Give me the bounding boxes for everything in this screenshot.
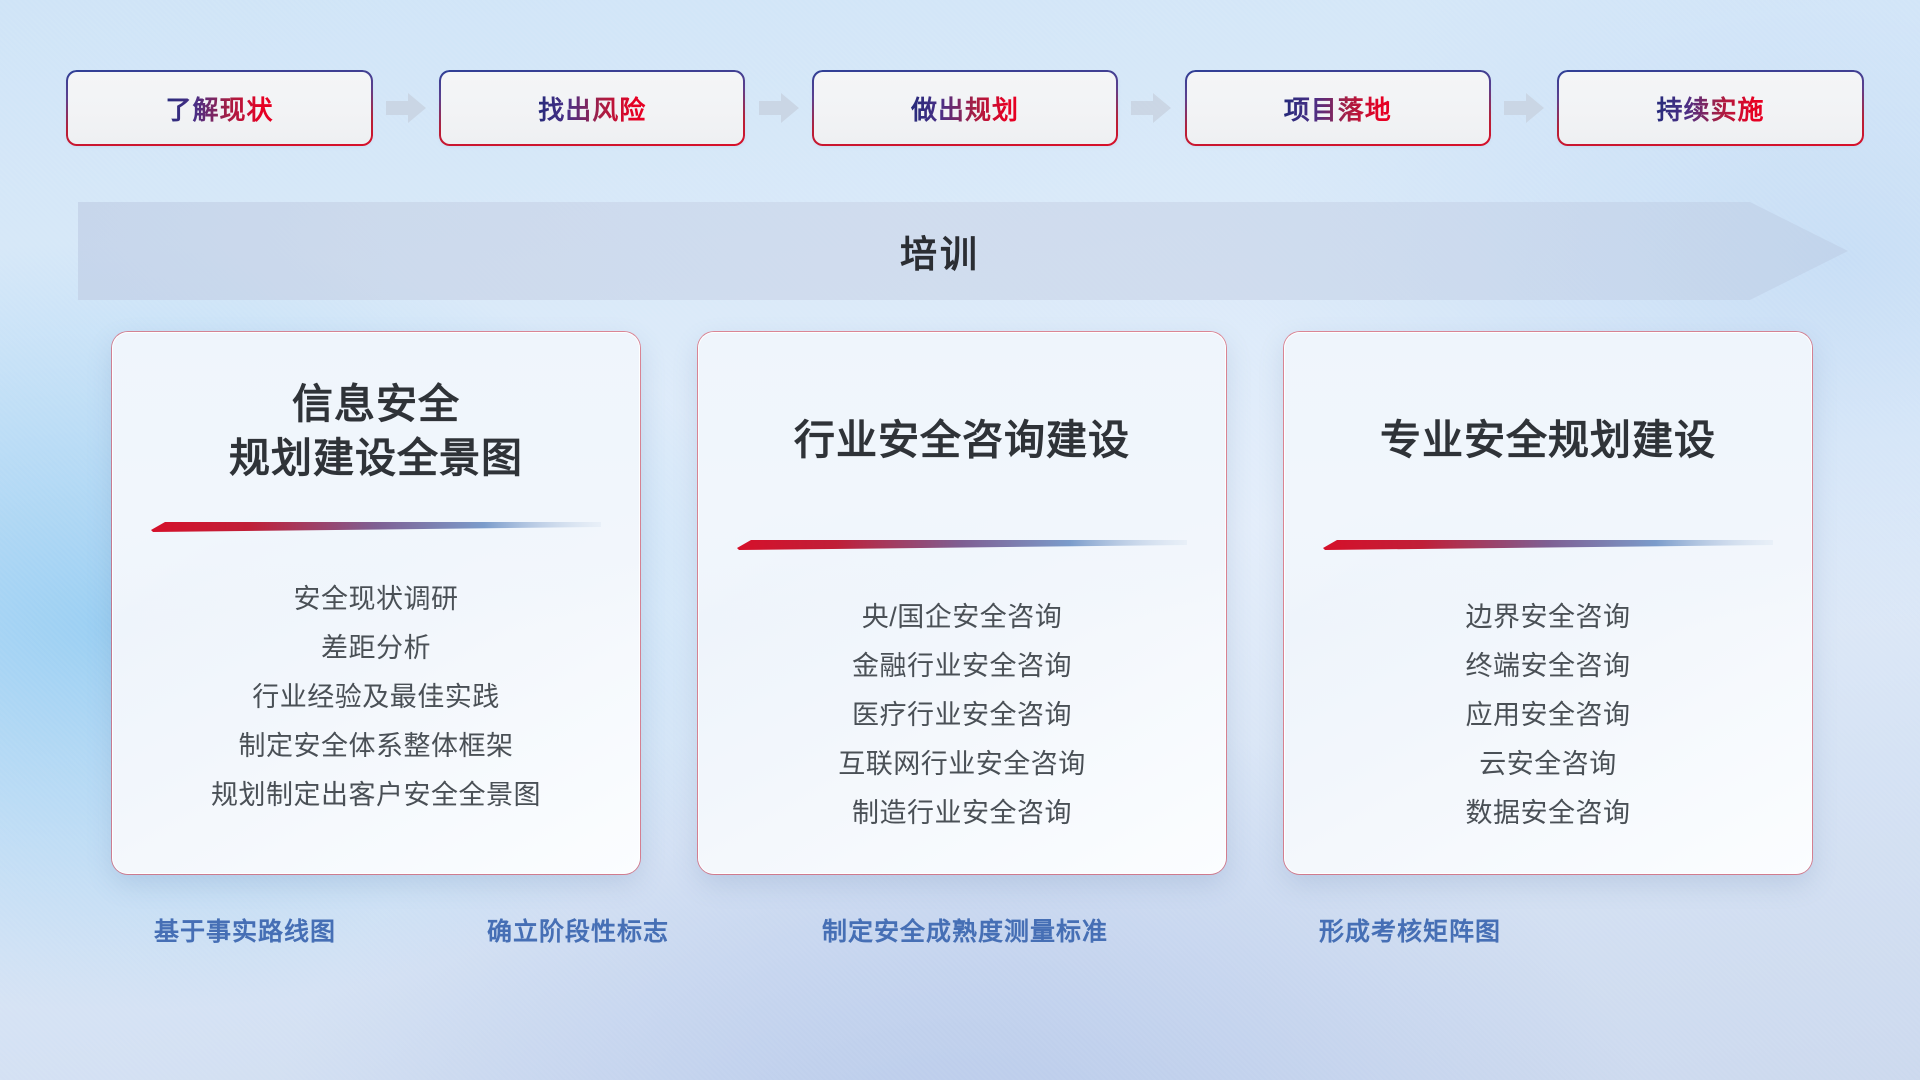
step-label-1: 了解现状 [165, 90, 273, 127]
list-item: 制定安全体系整体框架 [141, 722, 611, 771]
training-label-wrap: 培训 [0, 202, 1880, 300]
card-row: 信息安全 规划建设全景图 安全现状调研 [112, 332, 1812, 880]
gradient-rule-icon [151, 519, 601, 533]
card-divider-wrap [141, 519, 611, 533]
chevron-arrow-right-icon [386, 91, 426, 125]
card-professional-planning[interactable]: 专业安全规划建设 边界安全咨询 [1284, 332, 1812, 874]
card-item-list: 央/国企安全咨询 金融行业安全咨询 医疗行业安全咨询 互联网行业安全咨询 制造行… [727, 593, 1197, 838]
card-title: 行业安全咨询建设 [727, 413, 1197, 467]
card-title: 专业安全规划建设 [1313, 413, 1783, 467]
chevron-arrow-right-icon [759, 91, 799, 125]
step-box-3[interactable]: 做出规划 [814, 72, 1117, 144]
chevron-arrow-right-icon [1131, 91, 1171, 125]
bottom-label-1: 基于事实路线图 [154, 912, 336, 948]
step-label-3: 做出规划 [911, 90, 1019, 127]
list-item: 行业经验及最佳实践 [141, 673, 611, 722]
list-item: 应用安全咨询 [1313, 691, 1783, 740]
list-item: 规划制定出客户安全全景图 [141, 771, 611, 820]
card-divider-wrap [1313, 537, 1783, 551]
list-item: 医疗行业安全咨询 [727, 691, 1197, 740]
chevron-arrow-right-icon [1504, 91, 1544, 125]
list-item: 终端安全咨询 [1313, 642, 1783, 691]
step-box-4[interactable]: 项目落地 [1186, 72, 1489, 144]
training-label: 培训 [900, 224, 980, 278]
list-item: 数据安全咨询 [1313, 789, 1783, 838]
card-item-list: 边界安全咨询 终端安全咨询 应用安全咨询 云安全咨询 数据安全咨询 [1313, 593, 1783, 838]
process-step-row: 了解现状 找出风险 做出规划 项目落地 持续实施 [68, 72, 1862, 144]
card-divider-wrap [727, 537, 1197, 551]
list-item: 差距分析 [141, 624, 611, 673]
list-item: 金融行业安全咨询 [727, 642, 1197, 691]
slide-canvas: 了解现状 找出风险 做出规划 项目落地 持续实施 [0, 0, 1920, 1080]
list-item: 云安全咨询 [1313, 740, 1783, 789]
bottom-label-4: 形成考核矩阵图 [1319, 912, 1501, 948]
bottom-label-3: 制定安全成熟度测量标准 [822, 912, 1108, 948]
step-label-5: 持续实施 [1656, 90, 1764, 127]
bottom-label-row: 基于事实路线图 确立阶段性标志 制定安全成熟度测量标准 形成考核矩阵图 [0, 912, 1920, 962]
list-item: 制造行业安全咨询 [727, 789, 1197, 838]
gradient-rule-icon [737, 537, 1187, 551]
list-item: 边界安全咨询 [1313, 593, 1783, 642]
gradient-rule-icon [1323, 537, 1773, 551]
card-security-blueprint[interactable]: 信息安全 规划建设全景图 安全现状调研 [112, 332, 640, 874]
card-industry-consulting[interactable]: 行业安全咨询建设 央/国企安全咨询 [698, 332, 1226, 874]
bottom-label-2: 确立阶段性标志 [487, 912, 669, 948]
card-item-list: 安全现状调研 差距分析 行业经验及最佳实践 制定安全体系整体框架 规划制定出客户… [141, 575, 611, 820]
step-box-2[interactable]: 找出风险 [441, 72, 744, 144]
step-box-1[interactable]: 了解现状 [68, 72, 371, 144]
card-title: 信息安全 规划建设全景图 [141, 377, 611, 485]
list-item: 安全现状调研 [141, 575, 611, 624]
list-item: 央/国企安全咨询 [727, 593, 1197, 642]
step-label-2: 找出风险 [538, 90, 646, 127]
step-label-4: 项目落地 [1284, 90, 1392, 127]
step-box-5[interactable]: 持续实施 [1559, 72, 1862, 144]
list-item: 互联网行业安全咨询 [727, 740, 1197, 789]
